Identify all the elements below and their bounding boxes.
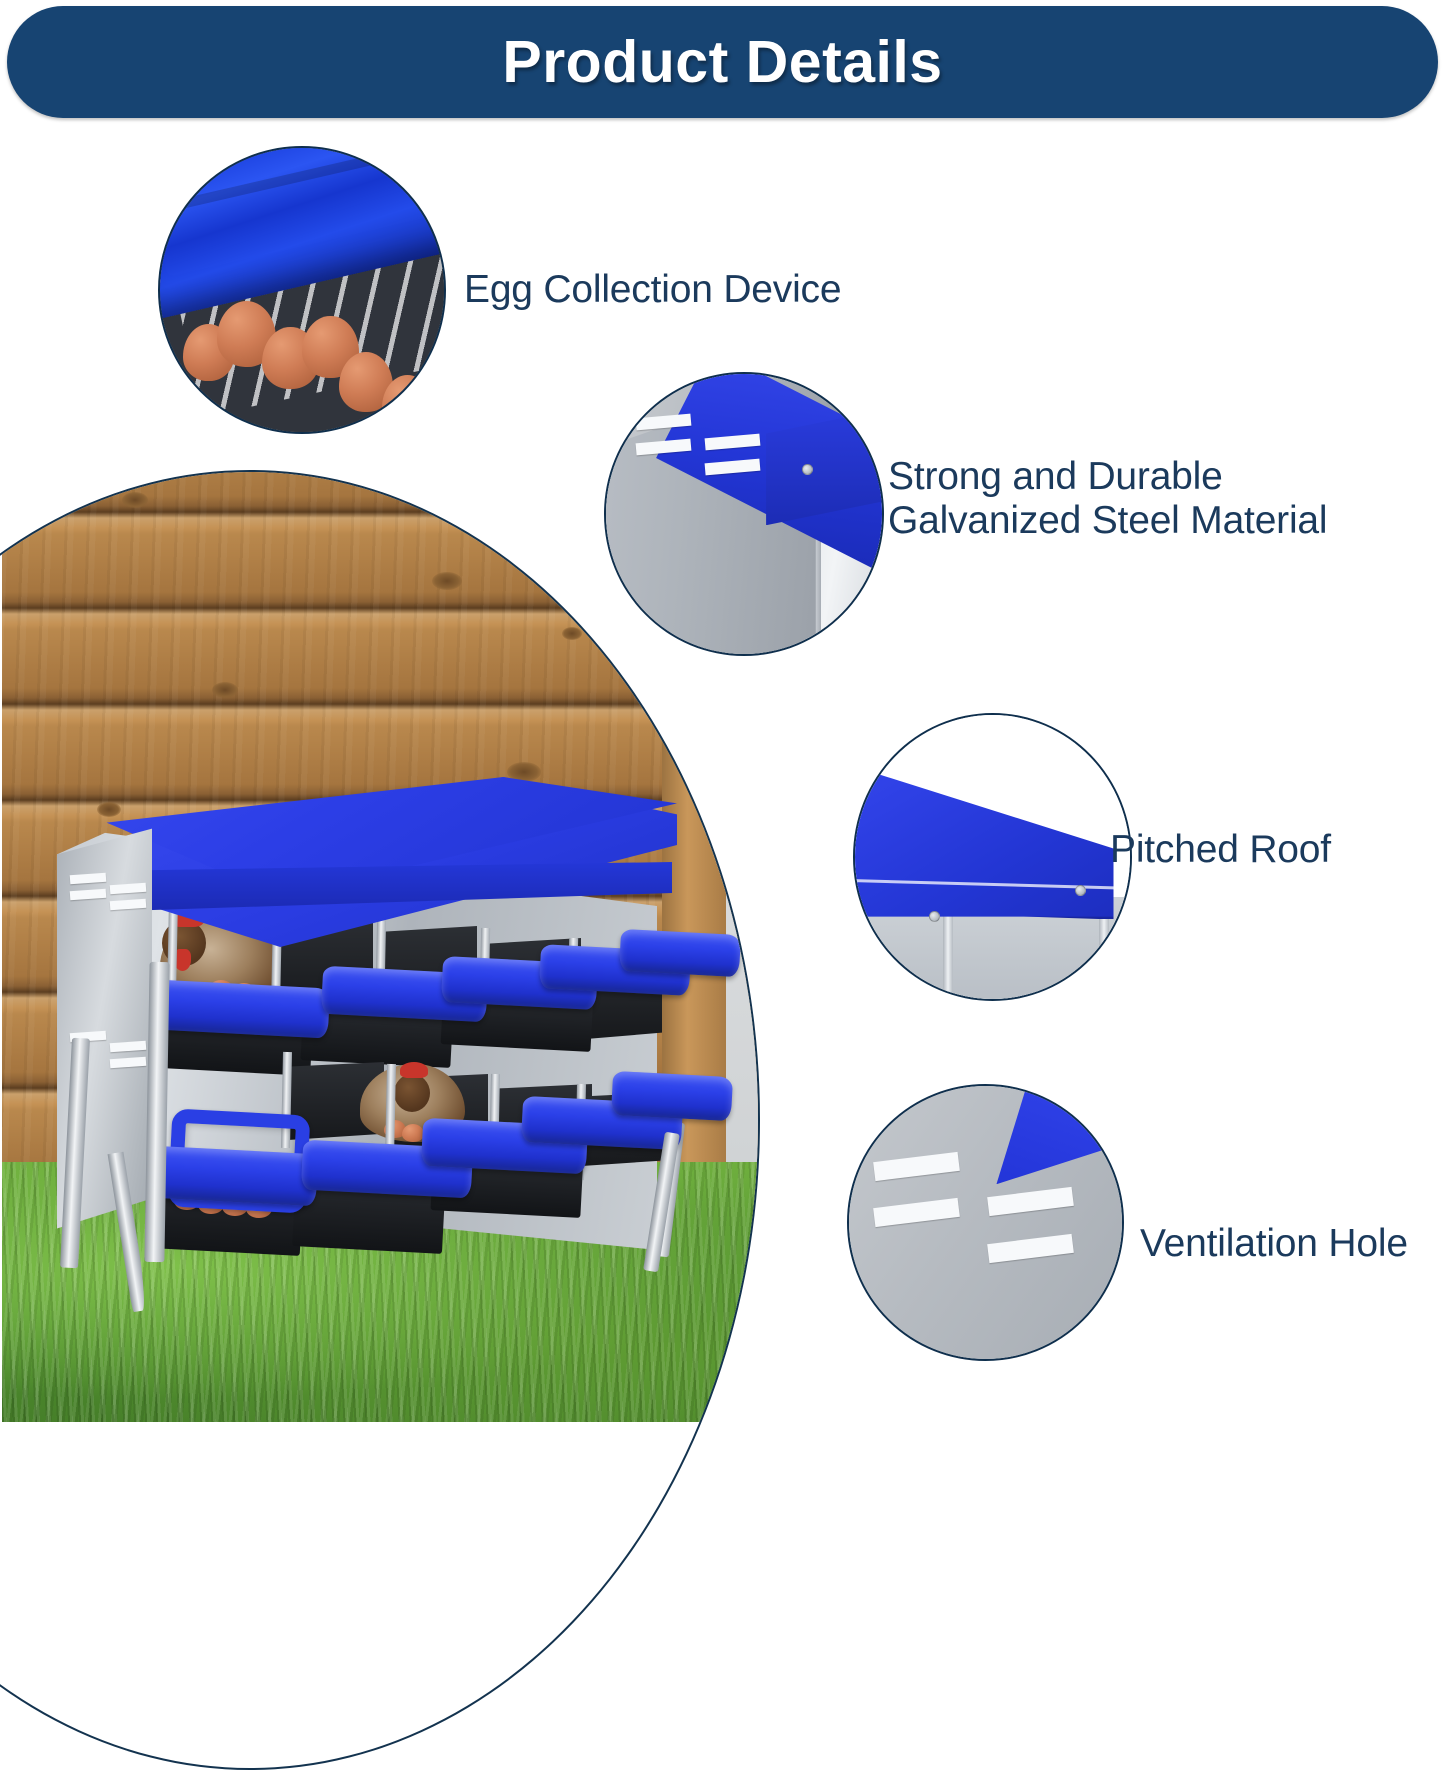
- ventilation-slots-icon: [847, 1084, 1124, 1361]
- chicken-head: [394, 1074, 430, 1112]
- pitched-roof-icon: [853, 713, 1132, 1001]
- hero-product-photo: [0, 470, 760, 1770]
- egg: [382, 375, 433, 432]
- fence-knot: [212, 682, 238, 698]
- header-banner: Product Details: [7, 6, 1438, 118]
- egg-rollout-tray: [611, 1071, 733, 1121]
- egg-rollout-tray: [151, 1146, 318, 1207]
- hero-photo-inner: [2, 470, 760, 1416]
- feature-label-egg-collection: Egg Collection Device: [464, 268, 984, 312]
- screw-icon: [802, 464, 813, 475]
- egg-tray-icon: [158, 146, 446, 434]
- egg-rollout-tray: [153, 979, 330, 1038]
- page-title: Product Details: [7, 28, 1438, 96]
- feature-label-pitched-roof: Pitched Roof: [1110, 828, 1440, 872]
- egg-rollout-tray: [619, 929, 741, 977]
- feature-label-ventilation-hole: Ventilation Hole: [1140, 1222, 1445, 1266]
- fence-knot: [122, 492, 148, 508]
- egg: [402, 1124, 424, 1142]
- fence-knot: [97, 802, 121, 817]
- feature-label-galvanized-steel: Strong and Durable Galvanized Steel Mate…: [888, 455, 1433, 543]
- chicken-comb: [400, 1062, 428, 1078]
- fence-knot: [432, 572, 462, 590]
- fence-knot: [562, 627, 582, 640]
